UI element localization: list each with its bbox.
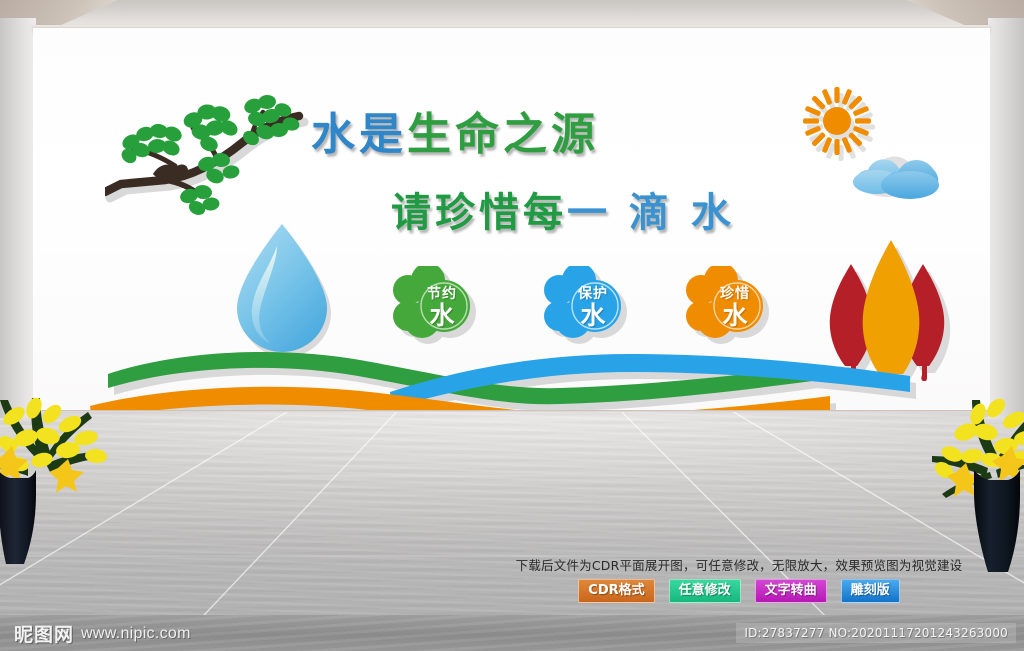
wall-column-left [0,18,36,418]
cdr-format-button[interactable]: CDR格式 [578,579,654,603]
title-line2-blue: 一 滴 水 [567,190,735,236]
format-buttons: CDR格式 任意修改 文字转曲 雕刻版 [479,579,999,603]
poster-mockup-stage: 水是生命之源 请珍惜每一 滴 水 [0,0,1024,651]
wave-ribbons [33,328,990,410]
vase-body-left [0,470,36,564]
brand-name-cn: 昵图网 [14,620,74,647]
watermark-bar: 昵图网 www.nipic.com ID:27837277 NO:2020111… [0,615,1024,651]
title-line2-green: 请珍惜每 [391,190,567,236]
wall-column-right [988,18,1024,418]
culture-wall: 水是生命之源 请珍惜每一 滴 水 [33,28,990,410]
asset-id-label: ID:27837277 NO:20201117201243263000 [736,623,1016,643]
title-line1-green: 生命之源 [407,109,599,160]
floor [0,404,1024,651]
flower-vase-left [0,398,114,588]
title-line-2: 请珍惜每一 滴 水 [391,180,735,238]
free-edit-button[interactable]: 任意修改 [669,579,741,603]
floor-tile-lines [0,404,1024,651]
carving-version-button[interactable]: 雕刻版 [841,579,900,603]
title-line-1: 水是生命之源 [311,98,599,162]
site-brand[interactable]: 昵图网 www.nipic.com [14,620,191,647]
download-caption: 下载后文件为CDR平面展开图，可任意修改，无限放大，效果预览图为视觉建设 [479,555,999,574]
brand-url: www.nipic.com [81,625,191,643]
title-line1-blue: 水是 [311,109,407,160]
text-to-curve-button[interactable]: 文字转曲 [755,579,827,603]
